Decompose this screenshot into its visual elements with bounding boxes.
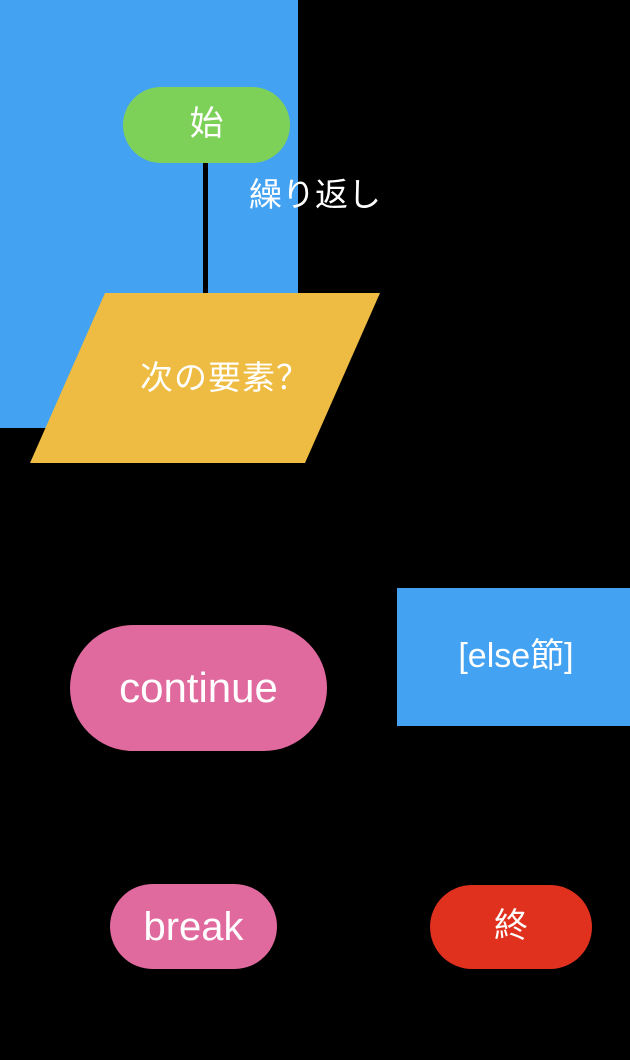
node-decision[interactable]: 次の要素？ (30, 293, 380, 463)
node-end[interactable]: 終 (430, 885, 592, 969)
node-continue[interactable]: continue (70, 625, 327, 751)
node-else-clause[interactable]: [else節] (397, 588, 630, 726)
edge-loop-to-decision (203, 1012, 208, 1060)
node-break[interactable]: break (110, 884, 277, 969)
node-start-label: 始 (190, 106, 224, 143)
node-loop-label: 繰り返し (0, 168, 630, 216)
node-decision-label: 次の要素？ (30, 293, 380, 463)
flowchart-canvas: 始 次の要素？ 繰り返し continue break [else節] 終 (0, 0, 630, 1060)
edge-else-to-end (508, 726, 513, 886)
node-end-label: 終 (494, 908, 528, 945)
edge-decision-to-loop (203, 462, 208, 586)
node-start[interactable]: 始 (123, 87, 290, 163)
node-break-label: break (143, 905, 243, 949)
node-else-clause-label: [else節] (458, 638, 573, 675)
node-continue-label: continue (119, 665, 278, 711)
edge-break-to-else (277, 924, 361, 932)
